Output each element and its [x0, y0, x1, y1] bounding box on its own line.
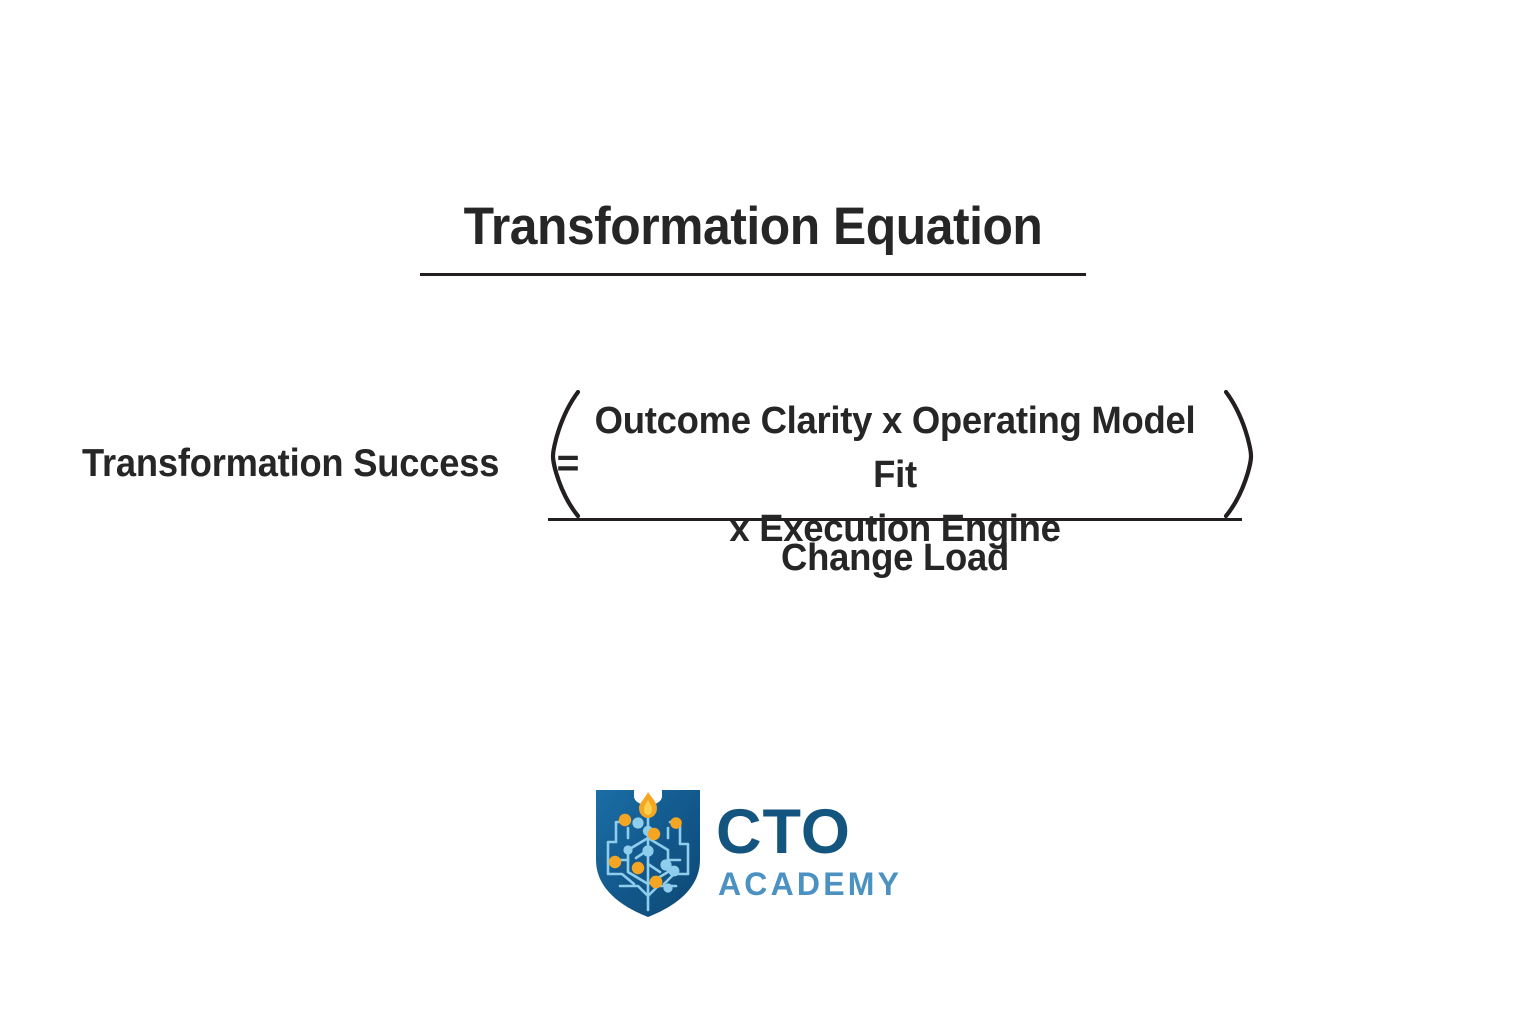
page-title: Transformation Equation [440, 198, 1066, 256]
cto-academy-logo: CTO ACADEMY [594, 782, 944, 922]
equation-lhs-term: Transformation Success [82, 442, 499, 486]
equation-left-side: Transformation Success = [82, 442, 579, 486]
equation-fraction: Outcome Clarity x Operating Model Fit x … [548, 378, 1242, 580]
shield-circuit-flame-icon [594, 786, 702, 918]
logo-brand-secondary: ACADEMY [718, 868, 902, 900]
right-parenthesis-icon [1222, 390, 1256, 518]
transformation-equation: Transformation Success = Outcome Clarity… [0, 378, 1536, 598]
title-underline-divider [420, 273, 1086, 276]
title-block: Transformation Equation [420, 198, 1086, 276]
numerator-line-1: Outcome Clarity x Operating Model Fit [593, 395, 1198, 503]
logo-brand-primary: CTO [716, 804, 902, 862]
flame-icon [639, 792, 657, 818]
left-parenthesis-icon [548, 390, 582, 518]
denominator-text: Change Load [562, 537, 1228, 580]
numerator-text: Outcome Clarity x Operating Model Fit x … [593, 395, 1198, 557]
logo-wordmark: CTO ACADEMY [716, 804, 902, 900]
equation-numerator: Outcome Clarity x Operating Model Fit x … [548, 378, 1242, 518]
